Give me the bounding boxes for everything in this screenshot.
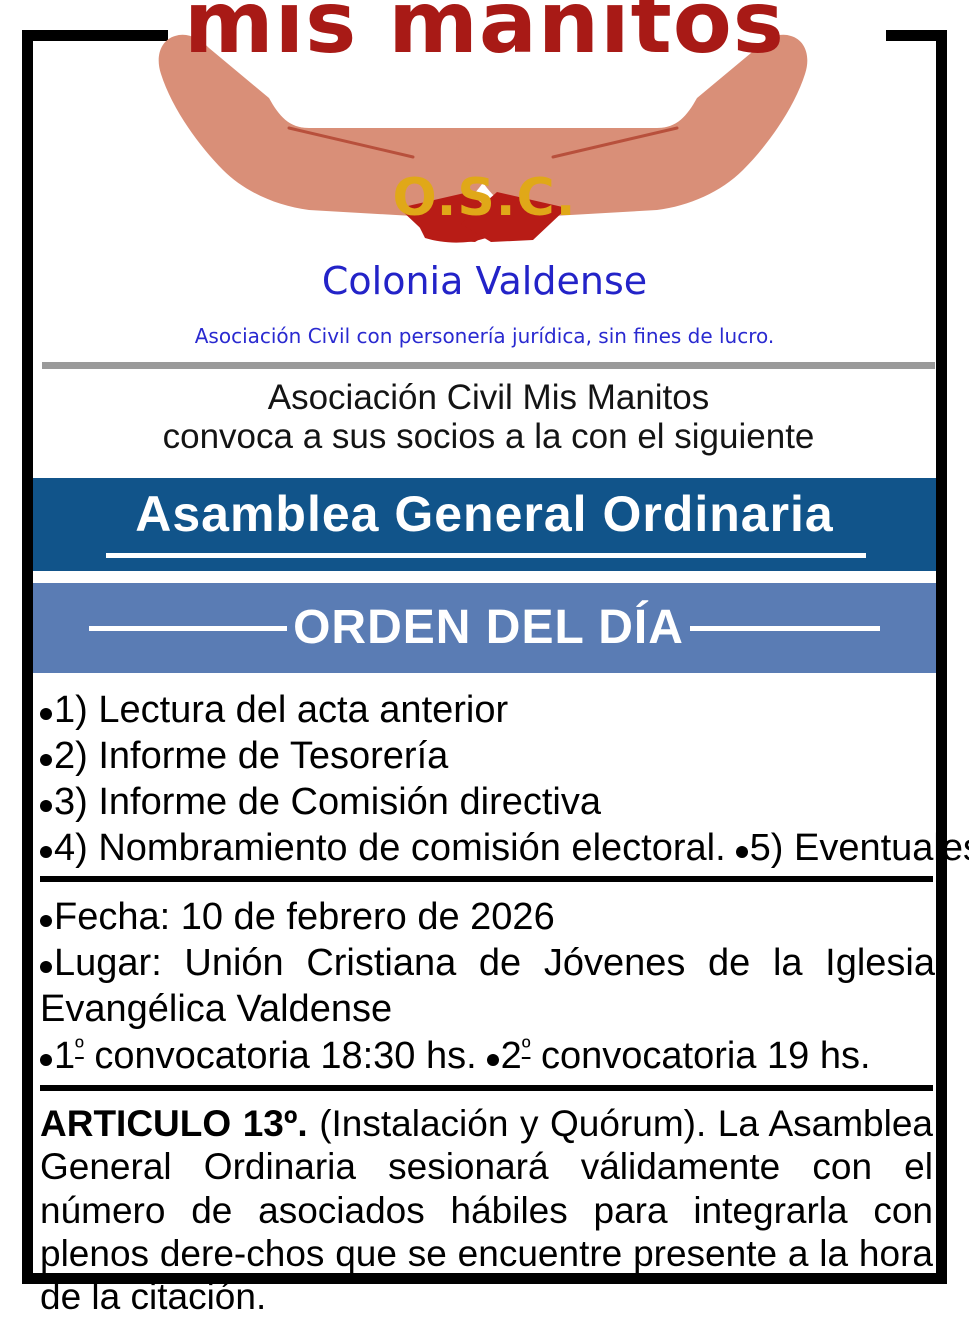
assembly-title-underline	[106, 553, 866, 558]
bullet-icon	[40, 800, 52, 812]
bullet-icon	[736, 846, 748, 858]
list-item: 1) Lectura del acta anterior	[40, 688, 935, 734]
bullet-icon	[40, 846, 52, 858]
agenda-item-3: 3) Informe de Comisión directiva	[54, 781, 601, 823]
place-value: Unión Cristiana de Jóvenes de la Iglesia…	[40, 942, 935, 1030]
logo-wordmark: mis manitos	[33, 0, 936, 66]
bullet-icon	[40, 915, 52, 927]
second-call-text: convocatoria 19 hs.	[541, 1035, 871, 1077]
logo-legal-note: Asociación Civil con personería jurídica…	[33, 326, 936, 346]
agenda-item-2: 2) Informe de Tesorería	[54, 735, 448, 777]
agenda-item-1: 1) Lectura del acta anterior	[54, 689, 508, 731]
agenda-title-rule-left	[89, 626, 287, 631]
frame-border-left	[22, 30, 33, 1284]
agenda-item-5: 5) Eventuales	[750, 827, 969, 869]
gray-divider	[42, 362, 935, 369]
intro-line-2: convoca a sus socios a la con el siguien…	[42, 417, 935, 456]
agenda-title-banner: ORDEN DEL DÍA	[33, 583, 936, 673]
second-call-number: 2	[501, 1035, 522, 1077]
article-paragraph: ARTICULO 13º. (Instalación y Quórum). La…	[40, 1102, 933, 1317]
intro-line-1: Asociación Civil Mis Manitos	[42, 378, 935, 417]
list-item: 4) Nombramiento de comisión electoral.5)…	[40, 826, 935, 872]
list-item: 3) Informe de Comisión directiva	[40, 780, 935, 826]
list-item: 2) Informe de Tesorería	[40, 734, 935, 780]
date-label: Fecha:	[54, 896, 170, 938]
intro-text: Asociación Civil Mis Manitos convoca a s…	[42, 378, 935, 456]
place-label: Lugar:	[54, 942, 162, 984]
first-call-number: 1	[54, 1035, 75, 1077]
section-divider-lower	[40, 1085, 933, 1091]
article-heading: ARTICULO 13º.	[40, 1103, 308, 1144]
first-call-text: convocatoria 18:30 hs.	[94, 1035, 476, 1077]
organization-logo: mis manitos O.S.C. Colonia Valdense Asoc…	[33, 0, 936, 362]
first-call-ordinal: º	[75, 1034, 84, 1060]
poster-root: mis manitos O.S.C. Colonia Valdense Asoc…	[0, 0, 969, 1317]
agenda-item-4: 4) Nombramiento de comisión electoral.	[54, 827, 726, 869]
date-value: 10 de febrero de 2026	[181, 896, 555, 938]
assembly-title-banner: Asamblea General Ordinaria	[33, 478, 936, 571]
agenda-title: ORDEN DEL DÍA	[293, 604, 684, 652]
section-divider-upper	[40, 876, 933, 882]
logo-osc-label: O.S.C.	[33, 172, 936, 224]
assembly-title: Asamblea General Ordinaria	[33, 489, 936, 539]
bullet-icon	[40, 1054, 52, 1066]
detail-calls-row: 1º convocatoria 18:30 hs.2º convocatoria…	[40, 1033, 935, 1080]
logo-location: Colonia Valdense	[33, 262, 936, 300]
bullet-icon	[487, 1054, 499, 1066]
agenda-list: 1) Lectura del acta anterior 2) Informe …	[40, 688, 935, 872]
agenda-title-rule-right	[690, 626, 880, 631]
bullet-icon	[40, 754, 52, 766]
bullet-icon	[40, 708, 52, 720]
frame-border-right	[936, 30, 947, 1284]
second-call-ordinal: º	[522, 1034, 531, 1060]
event-details: Fecha: 10 de febrero de 2026 Lugar: Unió…	[40, 895, 935, 1080]
bullet-icon	[40, 961, 52, 973]
detail-date-row: Fecha: 10 de febrero de 2026	[40, 895, 935, 941]
detail-place-row: Lugar: Unión Cristiana de Jóvenes de la …	[40, 941, 935, 1033]
